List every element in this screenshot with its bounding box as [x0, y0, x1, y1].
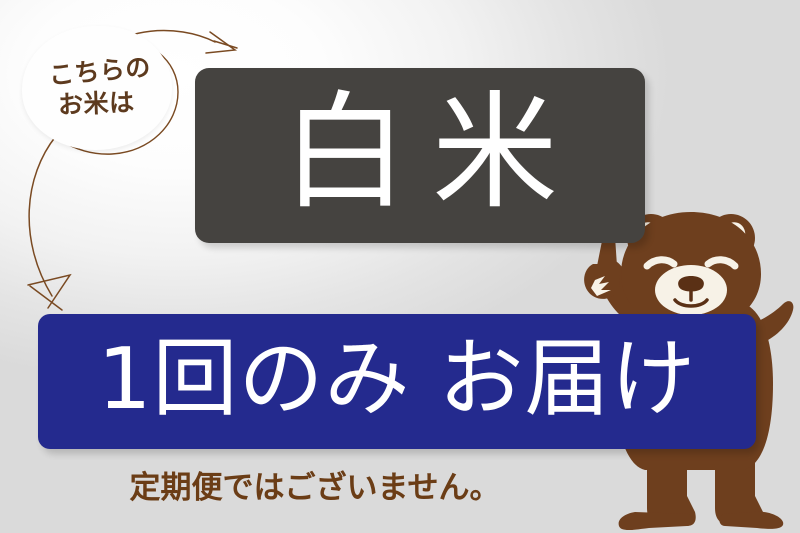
promo-banner-canvas: こちらの お米は	[0, 0, 800, 533]
delivery-frequency-label: 1回のみ お届け	[97, 337, 696, 426]
curved-arrow-to-blue-banner-icon	[28, 136, 70, 310]
speech-bubble-line-2: お米は	[57, 87, 135, 122]
speech-bubble-text: こちらの お米は	[18, 21, 176, 155]
subscription-disclaimer: 定期便ではございません。	[0, 462, 630, 507]
product-type-label: 白米	[258, 90, 582, 222]
product-type-banner[interactable]: 白米	[195, 68, 645, 243]
speech-bubble-line-1: こちらの	[48, 51, 152, 92]
delivery-frequency-banner[interactable]: 1回のみ お届け	[38, 314, 756, 449]
